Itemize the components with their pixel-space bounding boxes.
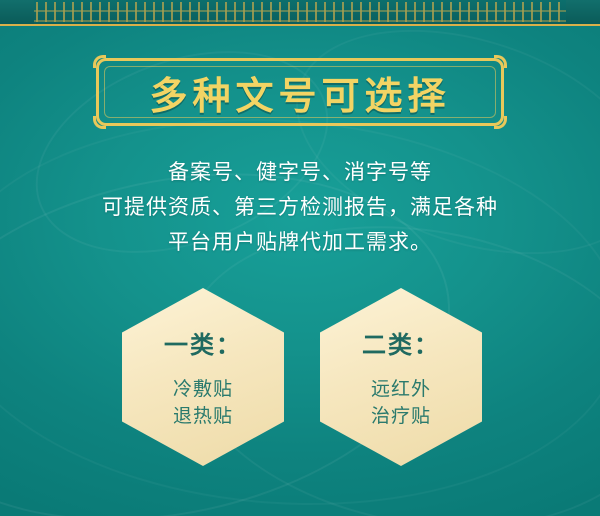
hexagon-category-1[interactable]: 一类： 冷敷贴 退热贴 bbox=[122, 288, 284, 466]
page-title: 多种文号可选择 bbox=[96, 58, 504, 126]
ornamental-top-border bbox=[0, 0, 600, 26]
title-plaque: 多种文号可选择 bbox=[96, 58, 504, 126]
poster-canvas: 多种文号可选择 备案号、健字号、消字号等 可提供资质、第三方检测报告，满足各种 … bbox=[0, 0, 600, 516]
category-hexagons: 一类： 冷敷贴 退热贴 二类： 远红外 治疗贴 bbox=[0, 288, 600, 468]
hexagon-2-heading: 二类： bbox=[362, 325, 440, 360]
hexagon-2-line-1: 远红外 bbox=[371, 376, 431, 403]
body-copy: 备案号、健字号、消字号等 可提供资质、第三方检测报告，满足各种 平台用户贴牌代加… bbox=[34, 155, 566, 260]
border-pattern bbox=[0, 2, 600, 22]
hexagon-1-line-2: 退热贴 bbox=[173, 403, 233, 430]
hexagon-2-content: 二类： 远红外 治疗贴 bbox=[320, 288, 482, 466]
hexagon-1-content: 一类： 冷敷贴 退热贴 bbox=[122, 288, 284, 466]
body-line-1: 备案号、健字号、消字号等 bbox=[34, 155, 566, 190]
hexagon-2-line-2: 治疗贴 bbox=[371, 403, 431, 430]
hexagon-category-2[interactable]: 二类： 远红外 治疗贴 bbox=[320, 288, 482, 466]
border-edge-left bbox=[0, 0, 34, 24]
hexagon-1-heading: 一类： bbox=[164, 325, 242, 360]
hexagon-1-line-1: 冷敷贴 bbox=[173, 376, 233, 403]
body-line-3: 平台用户贴牌代加工需求。 bbox=[34, 225, 566, 260]
border-edge-right bbox=[566, 0, 600, 24]
body-line-2: 可提供资质、第三方检测报告，满足各种 bbox=[34, 190, 566, 225]
